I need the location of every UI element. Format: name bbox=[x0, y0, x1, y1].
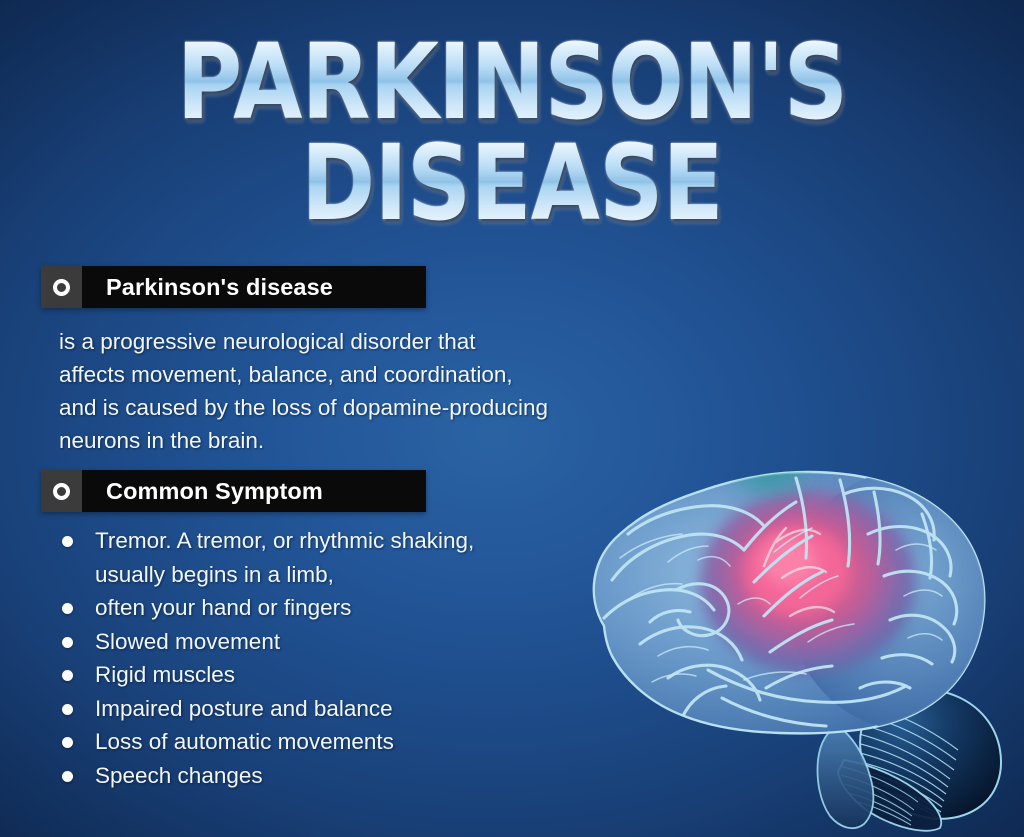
bullet-icon-hidden bbox=[48, 558, 95, 581]
section-header-symptoms: Common Symptom bbox=[41, 470, 426, 512]
ring-icon bbox=[53, 279, 70, 296]
symptom-text: Loss of automatic movements bbox=[95, 725, 394, 759]
bullet-icon bbox=[48, 658, 95, 681]
list-item: Impaired posture and balance bbox=[48, 692, 608, 726]
list-item: Slowed movement bbox=[48, 625, 608, 659]
symptom-text: usually begins in a limb, bbox=[95, 558, 334, 592]
list-item: often your hand or fingers bbox=[48, 591, 608, 625]
definition-line: is a progressive neurological disorder t… bbox=[59, 325, 699, 358]
bullet-icon bbox=[48, 725, 95, 748]
list-item: Loss of automatic movements bbox=[48, 725, 608, 759]
list-item: usually begins in a limb, bbox=[48, 558, 608, 592]
poster-title: PARKINSON'S DISEASE bbox=[0, 34, 1024, 231]
definition-line: affects movement, balance, and coordinat… bbox=[59, 358, 699, 391]
symptom-list: Tremor. A tremor, or rhythmic shaking, u… bbox=[48, 524, 608, 792]
section-header-definition: Parkinson's disease bbox=[41, 266, 426, 308]
title-line-2: DISEASE bbox=[72, 135, 953, 232]
ring-icon bbox=[53, 483, 70, 500]
symptom-text: Speech changes bbox=[95, 759, 263, 793]
bullet-icon bbox=[48, 524, 95, 547]
header-icon-box-definition bbox=[41, 266, 82, 308]
list-item: Tremor. A tremor, or rhythmic shaking, bbox=[48, 524, 608, 558]
symptom-text: Rigid muscles bbox=[95, 658, 235, 692]
bullet-icon bbox=[48, 591, 95, 614]
header-bar-symptoms: Common Symptom bbox=[82, 470, 426, 512]
bullet-icon bbox=[48, 759, 95, 782]
title-line-1: PARKINSON'S bbox=[72, 34, 953, 131]
cerebrum-region bbox=[594, 448, 1024, 733]
definition-paragraph: is a progressive neurological disorder t… bbox=[59, 325, 699, 457]
definition-line: neurons in the brain. bbox=[59, 424, 699, 457]
symptom-text: often your hand or fingers bbox=[95, 591, 351, 625]
section-title-definition: Parkinson's disease bbox=[106, 274, 333, 301]
definition-line: and is caused by the loss of dopamine-pr… bbox=[59, 391, 699, 424]
header-bar-definition: Parkinson's disease bbox=[82, 266, 426, 308]
bullet-icon bbox=[48, 625, 95, 648]
symptom-text: Slowed movement bbox=[95, 625, 280, 659]
list-item: Speech changes bbox=[48, 759, 608, 793]
header-icon-box-symptoms bbox=[41, 470, 82, 512]
symptom-text: Tremor. A tremor, or rhythmic shaking, bbox=[95, 524, 474, 558]
infographic-poster: PARKINSON'S DISEASE Parkinson's disease … bbox=[0, 0, 1024, 837]
bullet-icon bbox=[48, 692, 95, 715]
symptom-text: Impaired posture and balance bbox=[95, 692, 393, 726]
section-title-symptoms: Common Symptom bbox=[106, 478, 323, 505]
list-item: Rigid muscles bbox=[48, 658, 608, 692]
